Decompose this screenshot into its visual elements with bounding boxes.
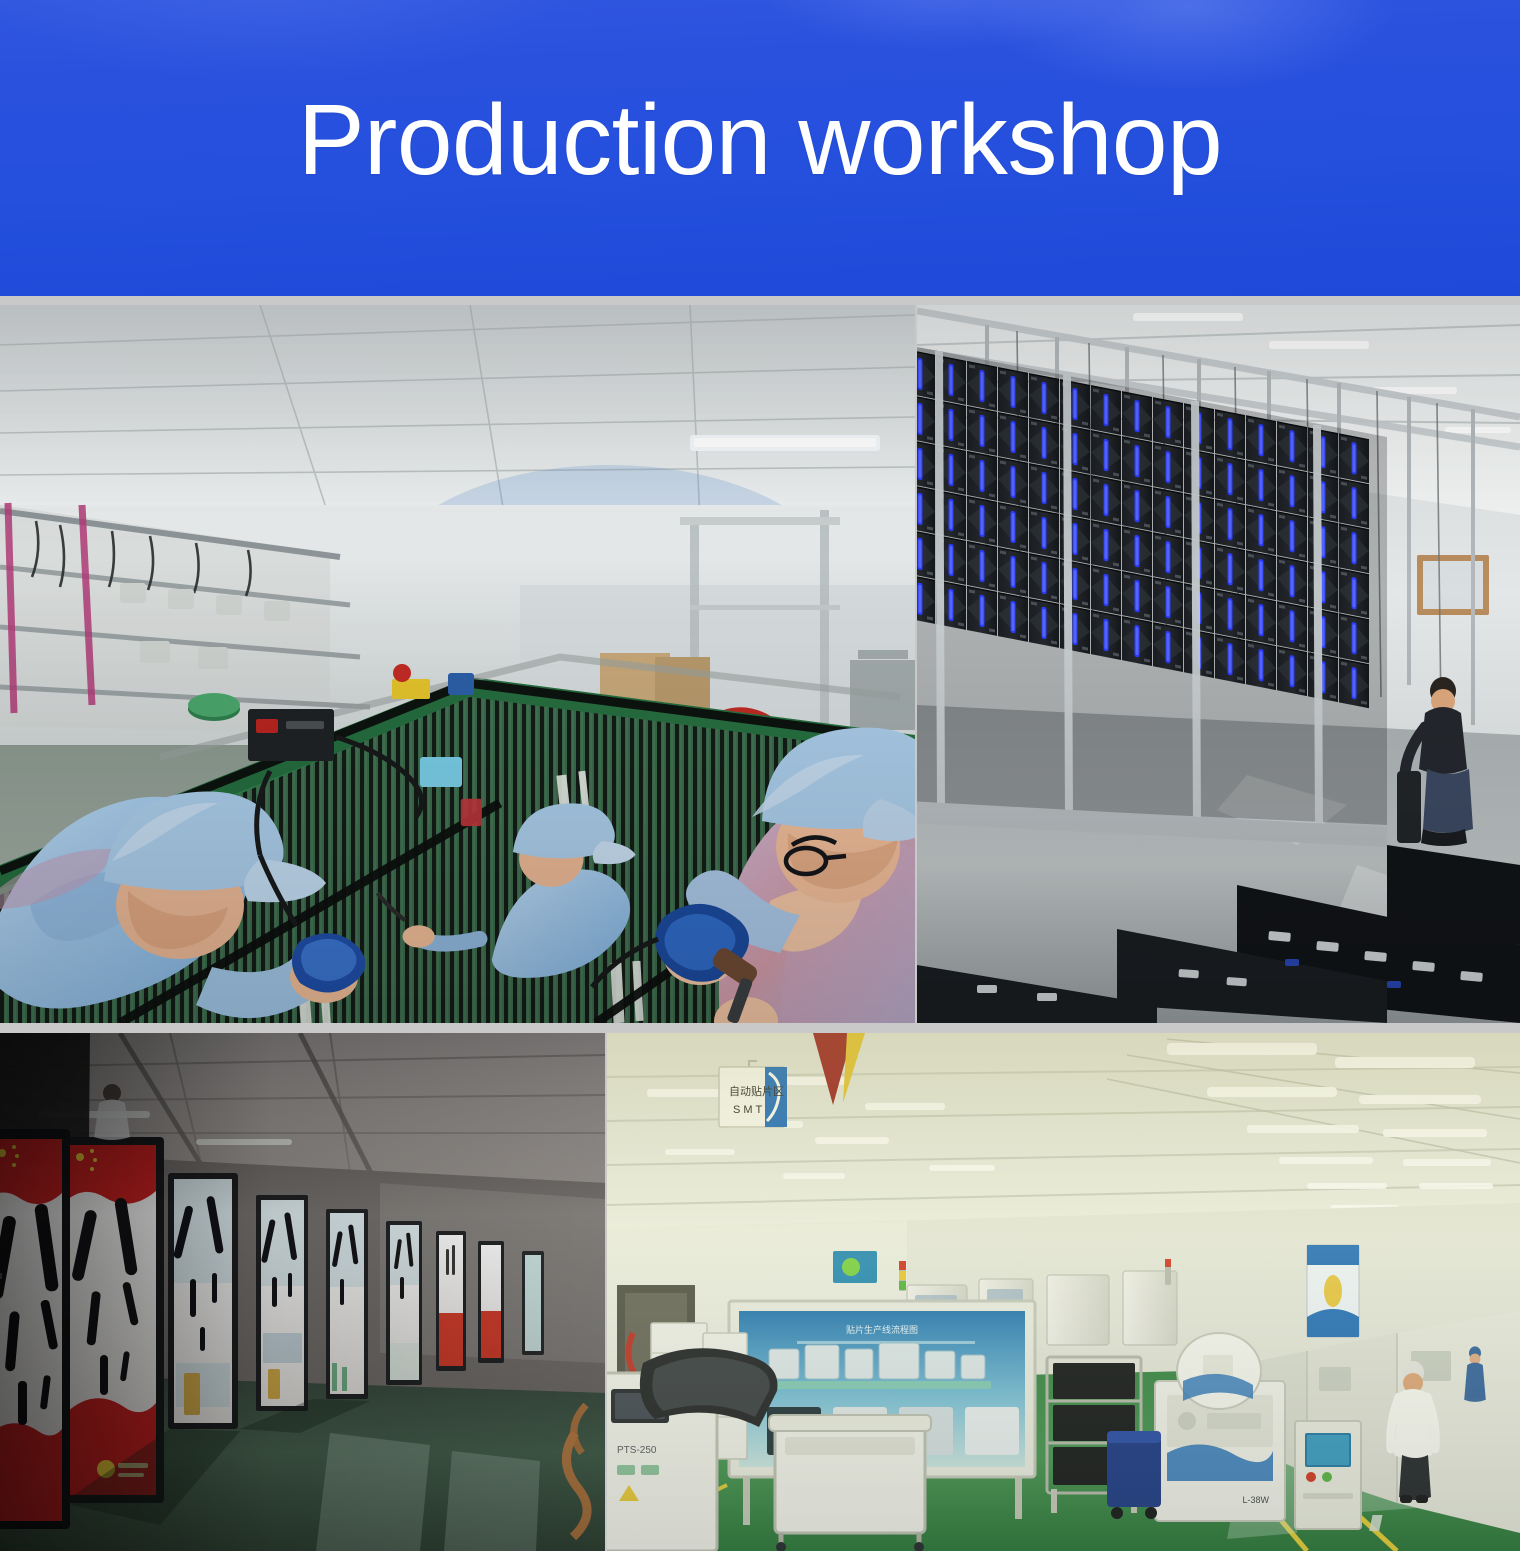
gallery-divider-middle: [0, 1023, 1520, 1033]
banner: Production workshop: [0, 0, 1520, 296]
smt-production-line-photo: 自动贴片区 SMT: [607, 1033, 1520, 1551]
digital-signage-kiosk-photo: [0, 1033, 605, 1551]
gallery-divider-top: [0, 296, 1520, 305]
led-assembly-line-photo: [0, 305, 915, 1023]
gallery-divider-row2: [605, 1033, 607, 1551]
page-root: Production workshop: [0, 0, 1520, 1551]
gallery-divider-row1: [915, 305, 917, 1023]
photo-gallery: 自动贴片区 SMT: [0, 296, 1520, 1551]
led-cabinet-test-wall-photo: [917, 305, 1520, 1023]
page-title: Production workshop: [0, 90, 1520, 190]
